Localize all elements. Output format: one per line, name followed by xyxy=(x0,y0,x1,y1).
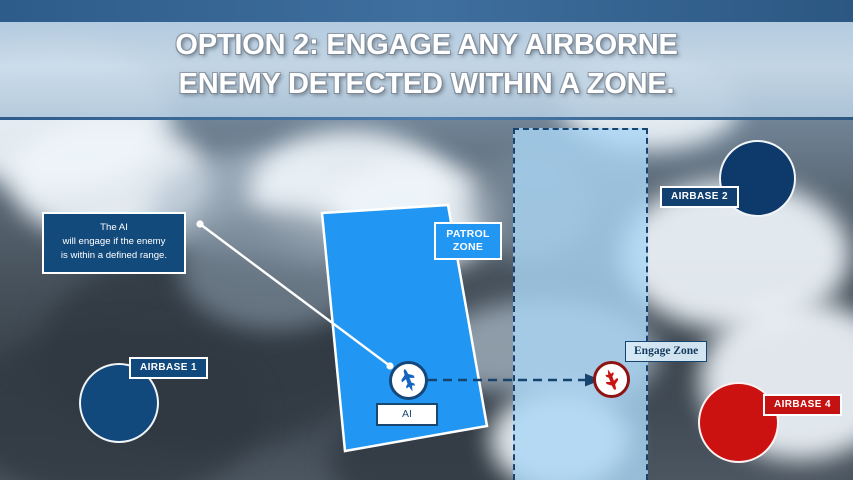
airbase-1-label: AIRBASE 1 xyxy=(129,357,208,379)
ai-aircraft-label: AI xyxy=(376,403,438,426)
slide-canvas: OPTION 2: ENGAGE ANY AIRBORNE ENEMY DETE… xyxy=(0,0,853,480)
jet-icon xyxy=(599,367,624,392)
jet-icon xyxy=(395,367,422,394)
ai-aircraft-marker[interactable] xyxy=(389,361,428,400)
ai-rule-callout: The AI will engage if the enemy is withi… xyxy=(42,212,186,274)
airbase-2-label: AIRBASE 2 xyxy=(660,186,739,208)
enemy-aircraft-marker[interactable] xyxy=(593,361,630,398)
patrol-zone-label: PATROL ZONE xyxy=(434,222,502,260)
airbase-4-label: AIRBASE 4 xyxy=(763,394,842,416)
engage-zone-label: Engage Zone xyxy=(625,341,707,362)
